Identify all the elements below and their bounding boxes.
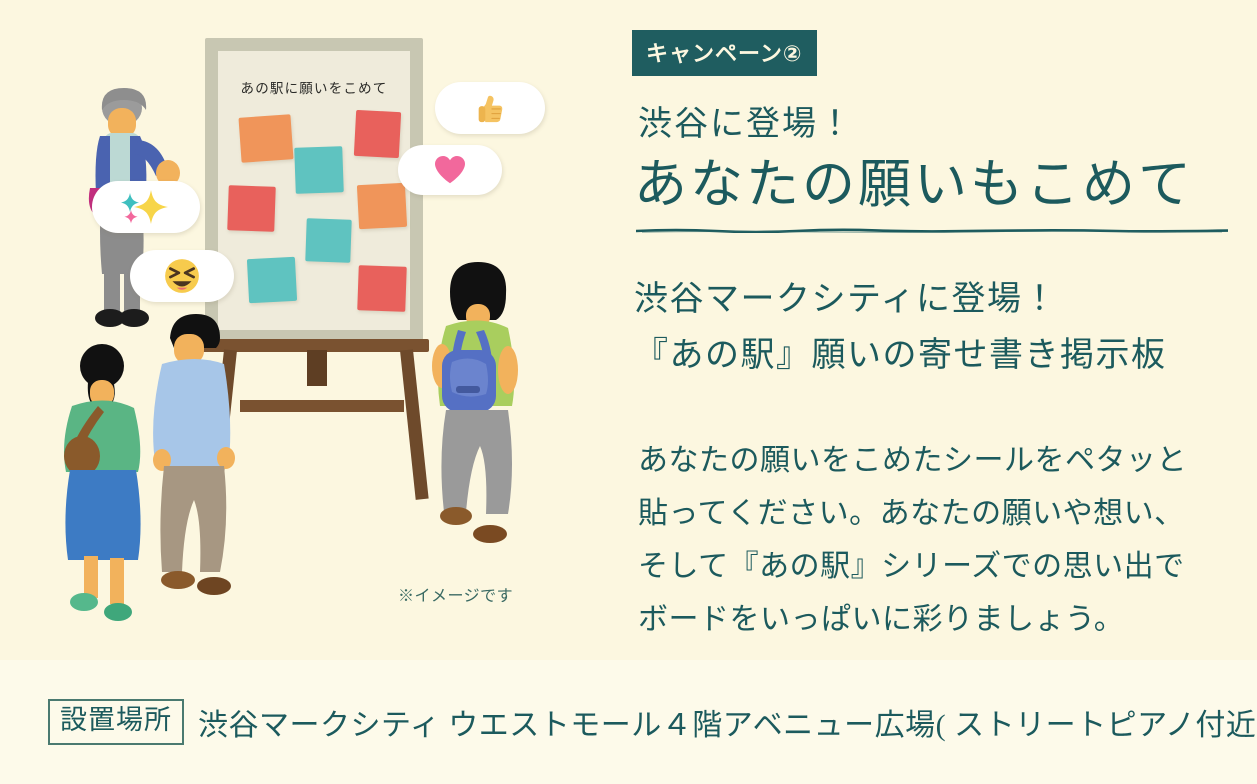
sticky-note (294, 146, 344, 194)
speech-bubble-sparkles (92, 181, 200, 233)
speech-bubble-thumbs-up (435, 82, 545, 134)
location-label: 設置場所 (48, 699, 184, 745)
body-line-1: あなたの願いをこめたシールをペタッと (638, 434, 1187, 487)
subheading-line-2: 『あの駅』願いの寄せ書き掲示板 (634, 328, 1167, 384)
sticky-note (354, 110, 401, 158)
sticky-note (247, 257, 297, 303)
sticky-note (357, 183, 407, 229)
sticky-note (305, 218, 351, 263)
thumbs-up-icon (473, 91, 507, 125)
easel-center-support (307, 350, 327, 386)
board-surface: あの駅に願いをこめて (218, 51, 410, 330)
heart-icon (434, 155, 466, 185)
subheading: 渋谷マークシティに登場！ 『あの駅』願いの寄せ書き掲示板 (634, 272, 1167, 384)
heading-main: あなたの願いもこめて (634, 142, 1194, 218)
man-figure (152, 308, 262, 608)
board-title: あの駅に願いをこめて (218, 77, 410, 97)
person-with-backpack (428, 258, 538, 558)
heading-small: 渋谷に登場！ (638, 96, 854, 145)
footer-inner: 設置場所 渋谷マークシティ ウエストモール４階アベニュー広場( ストリートピアノ… (0, 699, 1257, 745)
laughing-face-icon (163, 257, 201, 295)
body-line-2: 貼ってください。あなたの願いや想い、 (638, 487, 1187, 540)
backpack-figure (428, 258, 538, 558)
sticky-note (227, 185, 276, 232)
easel-leg-right (400, 349, 429, 500)
speech-bubble-heart (398, 145, 502, 195)
location-footer: 設置場所 渋谷マークシティ ウエストモール４階アベニュー広場( ストリートピアノ… (0, 660, 1257, 784)
sticky-note (238, 114, 293, 163)
subheading-line-1: 渋谷マークシティに登場！ (634, 272, 1167, 328)
body-line-4: ボードをいっぱいに彩りましょう。 (638, 593, 1187, 646)
person-woman-green-top (58, 340, 168, 630)
location-value: 渋谷マークシティ ウエストモール４階アベニュー広場( ストリートピアノ付近) (198, 700, 1257, 744)
illustration-scene: あの駅に願いをこめて (0, 0, 610, 660)
body-copy: あなたの願いをこめたシールをペタッと 貼ってください。あなたの願いや想い、 そし… (638, 434, 1187, 646)
sticky-note (357, 265, 407, 312)
campaign-poster: あの駅に願いをこめて (0, 0, 1257, 784)
image-disclaimer: ※イメージです (398, 582, 513, 606)
body-line-3: そして『あの駅』シリーズでの思い出で (638, 540, 1187, 593)
sparkles-icon (115, 188, 177, 226)
easel-crossbar (240, 400, 404, 412)
woman-figure (58, 340, 168, 630)
person-man-blue-shirt (152, 308, 262, 608)
heading-divider (636, 228, 1228, 233)
content-column: キャンペーン② 渋谷に登場！ あなたの願いもこめて 渋谷マークシティに登場！ 『… (632, 0, 1232, 660)
speech-bubble-laughing-face (130, 250, 234, 302)
message-board: あの駅に願いをこめて (205, 38, 423, 343)
campaign-badge: キャンペーン② (632, 30, 817, 76)
